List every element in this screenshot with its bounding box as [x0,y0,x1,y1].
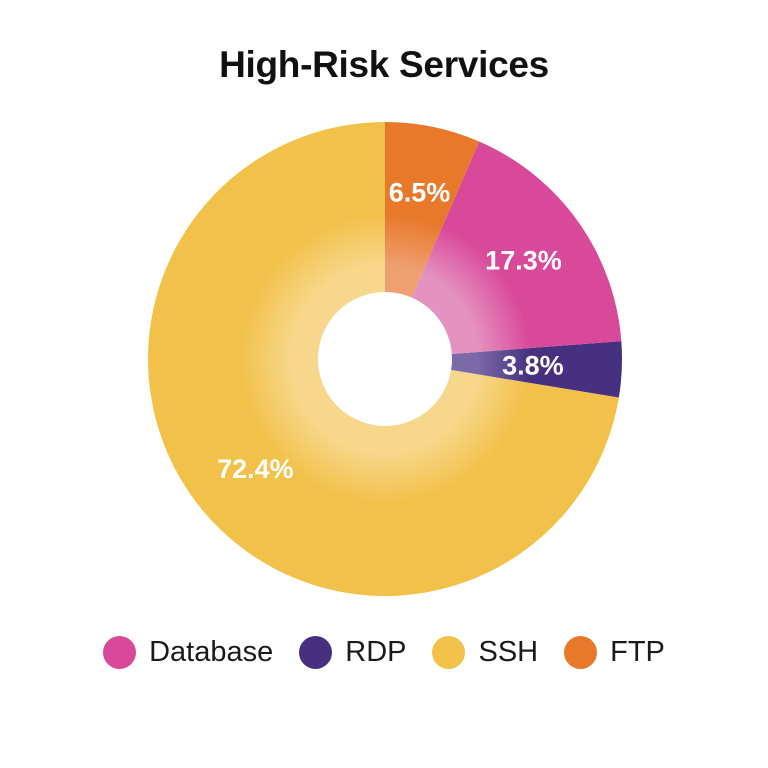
legend-swatch-ssh [432,636,465,669]
slice-value-label-database: 17.3% [485,245,562,275]
slice-value-label-ftp: 6.5% [389,178,451,208]
legend-label-rdp: RDP [345,636,406,669]
chart-legend: DatabaseRDPSSHFTP [0,636,768,669]
legend-item-database[interactable]: Database [103,636,273,669]
legend-label-ftp: FTP [610,636,665,669]
legend-swatch-ftp [564,636,597,669]
legend-swatch-rdp [299,636,332,669]
slice-value-label-ssh: 72.4% [217,454,294,484]
legend-item-rdp[interactable]: RDP [299,636,406,669]
legend-item-ssh[interactable]: SSH [432,636,538,669]
legend-label-ssh: SSH [478,636,538,669]
legend-label-database: Database [149,636,273,669]
legend-swatch-database [103,636,136,669]
chart-container: High-Risk Services 72.4%3.8%17.3%6.5% Da… [0,0,768,768]
slice-value-label-rdp: 3.8% [502,351,564,381]
legend-item-ftp[interactable]: FTP [564,636,665,669]
